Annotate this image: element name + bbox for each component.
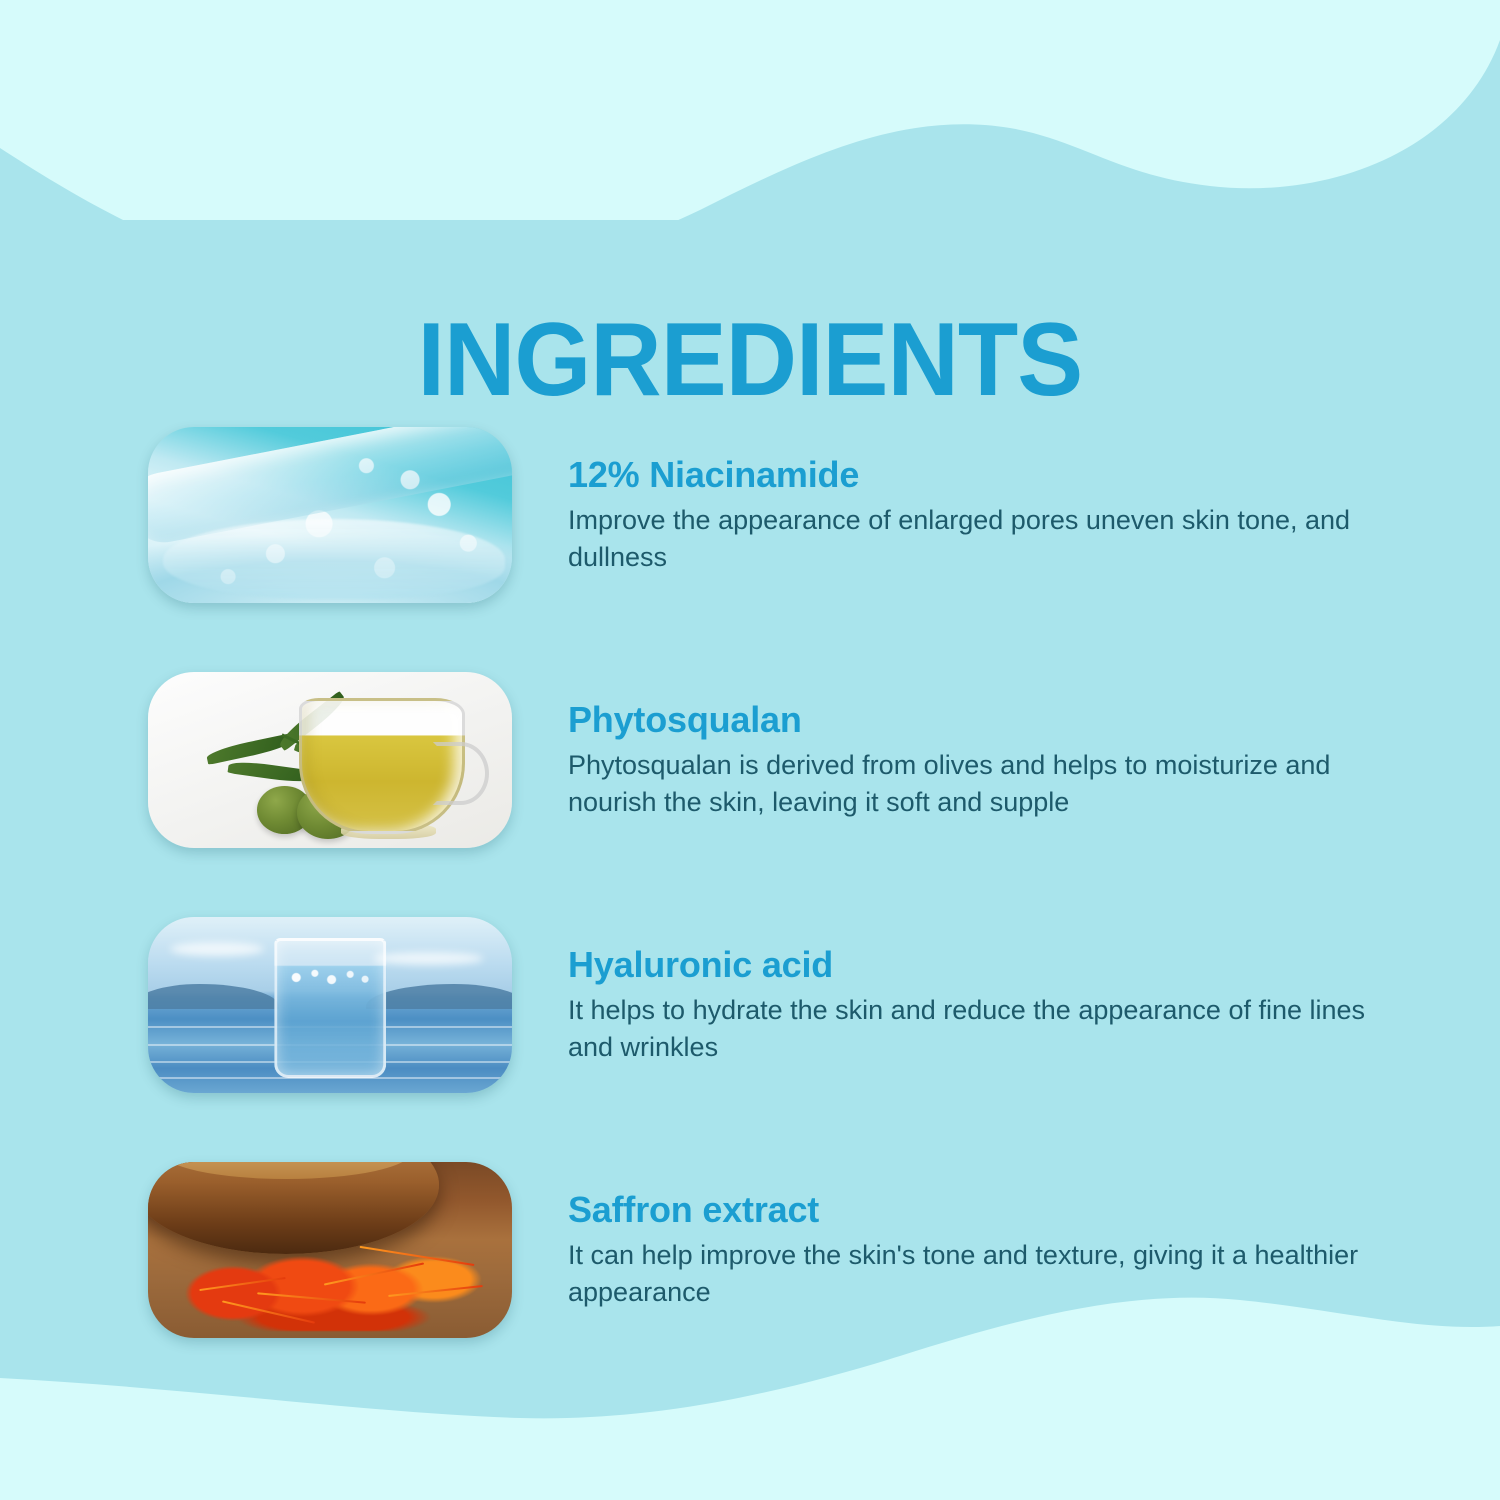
saffron-illustration [148, 1162, 512, 1338]
olive-leaf-icon [206, 733, 294, 765]
water-glass-photo [148, 917, 512, 1093]
top-wave-decoration [0, 0, 1500, 220]
ingredient-heading: Phytosqualan [568, 699, 1368, 741]
niacinamide-gel-photo [148, 427, 512, 603]
water-glass [274, 938, 386, 1078]
ingredient-row-saffron: Saffron extract It can help improve the … [0, 1155, 1500, 1400]
top-wave-shape [0, 0, 1500, 220]
ingredient-description: It can help improve the skin's tone and … [568, 1237, 1368, 1310]
oil-pitcher [299, 698, 465, 834]
ingredient-row-niacinamide: 12% Niacinamide Improve the appearance o… [0, 420, 1500, 665]
saffron-copy: Saffron extract It can help improve the … [568, 1189, 1368, 1310]
ingredient-description: Improve the appearance of enlarged pores… [568, 502, 1368, 575]
ingredient-heading: 12% Niacinamide [568, 454, 1368, 496]
niacinamide-copy: 12% Niacinamide Improve the appearance o… [568, 454, 1368, 575]
page-title: INGREDIENTS [418, 306, 1083, 414]
ingredient-description: It helps to hydrate the skin and reduce … [568, 992, 1368, 1065]
phytosqualan-copy: Phytosqualan Phytosqualan is derived fro… [568, 699, 1368, 820]
hyaluronic-acid-copy: Hyaluronic acid It helps to hydrate the … [568, 944, 1368, 1065]
mountain-shape [366, 984, 512, 1009]
cloud-shape [170, 942, 265, 956]
olive-oil-photo [148, 672, 512, 848]
mountain-shape [148, 984, 279, 1009]
ingredient-heading: Hyaluronic acid [568, 944, 1368, 986]
ingredient-row-phytosqualan: Phytosqualan Phytosqualan is derived fro… [0, 665, 1500, 910]
saffron-threads-photo [148, 1162, 512, 1338]
water-lake-illustration [148, 917, 512, 1093]
olive-oil-illustration [148, 672, 512, 848]
gel-bubbles-illustration [148, 427, 512, 603]
ingredient-row-hyaluronic-acid: Hyaluronic acid It helps to hydrate the … [0, 910, 1500, 1155]
ingredients-infographic: INGREDIENTS 12% Niacinamide Improve the … [0, 0, 1500, 1500]
ingredient-heading: Saffron extract [568, 1189, 1368, 1231]
cloud-shape [374, 952, 483, 964]
ingredient-list: 12% Niacinamide Improve the appearance o… [0, 420, 1500, 1400]
ingredient-description: Phytosqualan is derived from olives and … [568, 747, 1368, 820]
